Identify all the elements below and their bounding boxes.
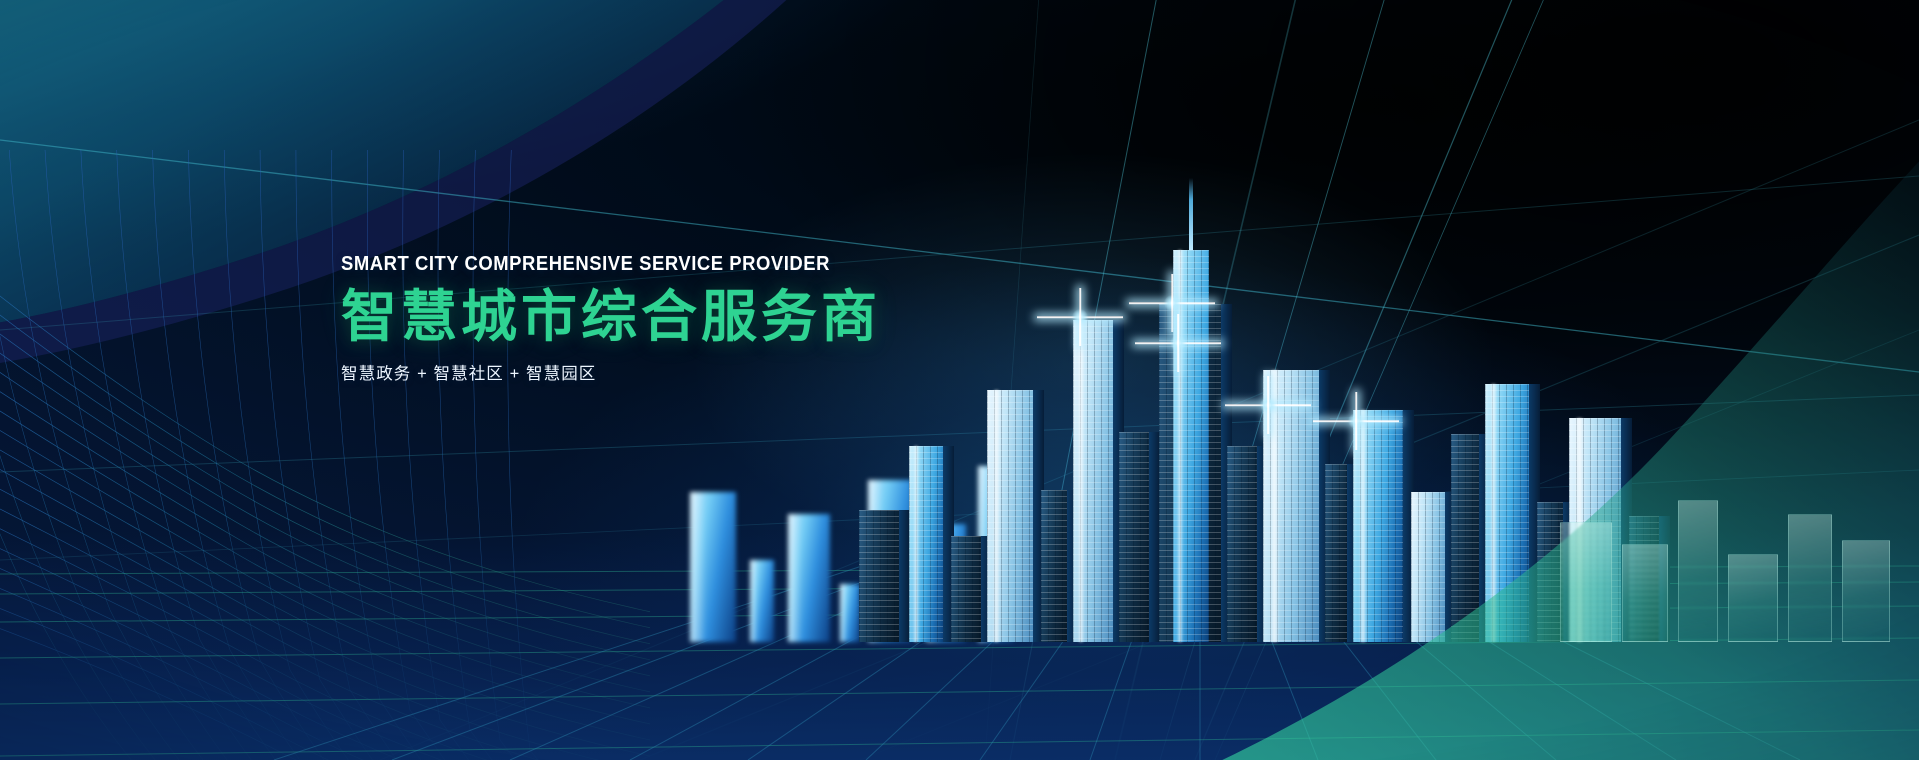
green-glass-blocks xyxy=(1560,412,1919,642)
subtitle-services: 智慧政务 + 智慧社区 + 智慧园区 xyxy=(341,360,1101,384)
hero-copy: SMART CITY COMPREHENSIVE SERVICE PROVIDE… xyxy=(341,252,1101,384)
page-title: 智慧城市综合服务商 xyxy=(341,288,1101,346)
eyebrow-tagline: SMART CITY COMPREHENSIVE SERVICE PROVIDE… xyxy=(341,252,1025,276)
hero-banner: SMART CITY COMPREHENSIVE SERVICE PROVIDE… xyxy=(0,0,1919,760)
right-green-sweep-decor xyxy=(1199,60,1919,760)
